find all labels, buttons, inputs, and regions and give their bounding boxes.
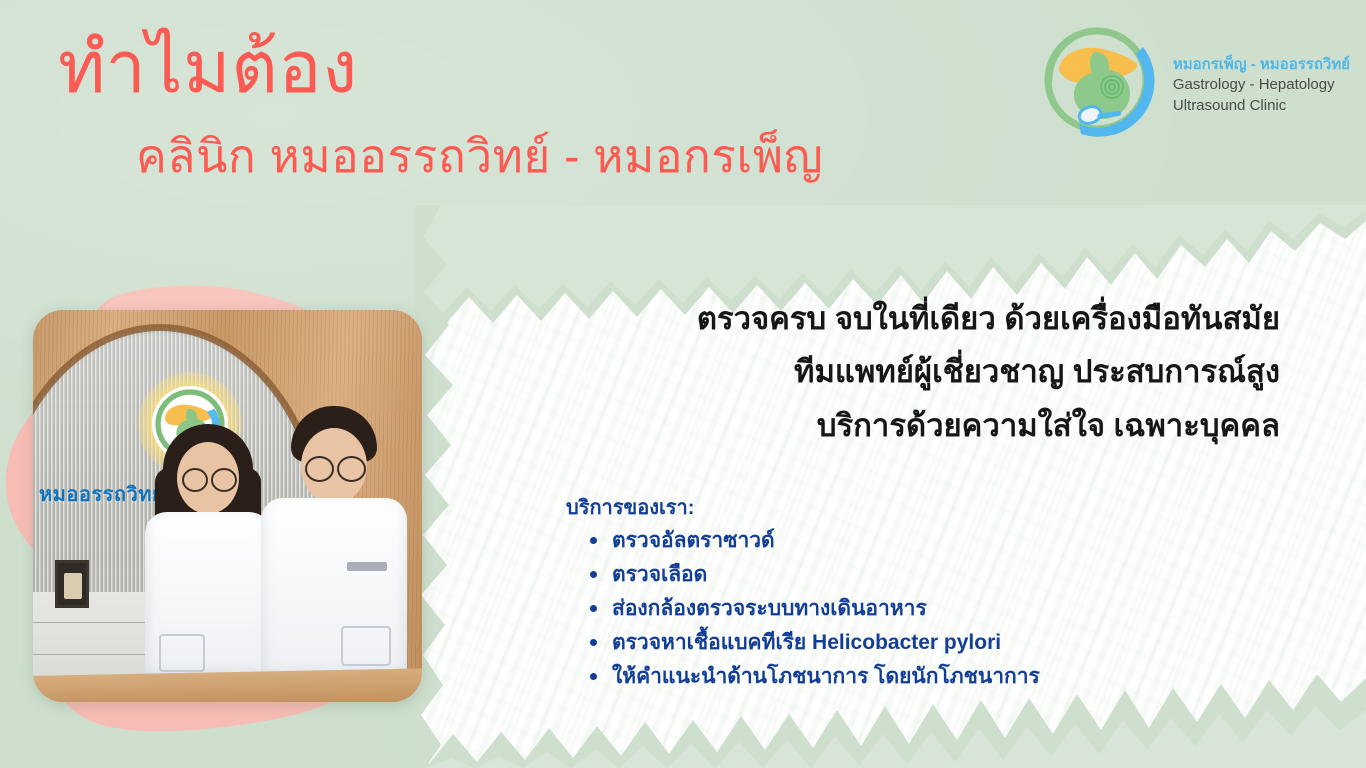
page-title-line2: คลินิก หมออรรถวิทย์ - หมอกรเพ็ญ (136, 133, 823, 179)
doctor-male (261, 412, 407, 678)
services-list: ตรวจอัลตราซาวด์ ตรวจเลือด ส่องกล้องตรวจร… (566, 524, 1040, 694)
headline-line-2: ทีมแพทย์ผู้เชี่ยวชาญ ประสบการณ์สูง (580, 345, 1280, 398)
services-title: บริการของเรา: (566, 495, 1040, 521)
list-item: ให้คำแนะนำด้านโภชนาการ โดยนักโภชนาการ (588, 660, 1040, 694)
clinic-team-photo: หมออรรถวิทย์ อกรเพ็ญ (33, 310, 422, 702)
slide-canvas: หมออรรถวิทย์ อกรเพ็ญ (0, 0, 1366, 768)
page-title-line1: ทำไมต้อง (58, 32, 358, 104)
brand-logo: หมอกรเพ็ญ - หมออรรถวิทย์ Gastrology - He… (1035, 18, 1350, 142)
brand-english-line2: Ultrasound Clinic (1173, 97, 1350, 116)
headline-block: ตรวจครบ จบในที่เดียว ด้วยเครื่องมือทันสม… (580, 292, 1280, 452)
paper-torn-left-edge (415, 205, 545, 768)
headline-line-3: บริการด้วยความใส่ใจ เฉพาะบุคคล (580, 399, 1280, 452)
clinic-logo-icon (1035, 18, 1159, 142)
list-item: ตรวจหาเชื้อแบคทีเรีย Helicobacter pylori (588, 626, 1040, 660)
doctor-female (145, 428, 271, 678)
list-item: ส่องกล้องตรวจระบบทางเดินอาหาร (588, 592, 1040, 626)
brand-english-line1: Gastrology - Hepatology (1173, 76, 1350, 95)
wall-picture-frame (55, 560, 89, 608)
brand-thai-name: หมอกรเพ็ญ - หมออรรถวิทย์ (1173, 56, 1350, 74)
list-item: ตรวจอัลตราซาวด์ (588, 524, 1040, 558)
list-item: ตรวจเลือด (588, 558, 1040, 592)
headline-line-1: ตรวจครบ จบในที่เดียว ด้วยเครื่องมือทันสม… (580, 292, 1280, 345)
services-block: บริการของเรา: ตรวจอัลตราซาวด์ ตรวจเลือด … (566, 495, 1040, 694)
